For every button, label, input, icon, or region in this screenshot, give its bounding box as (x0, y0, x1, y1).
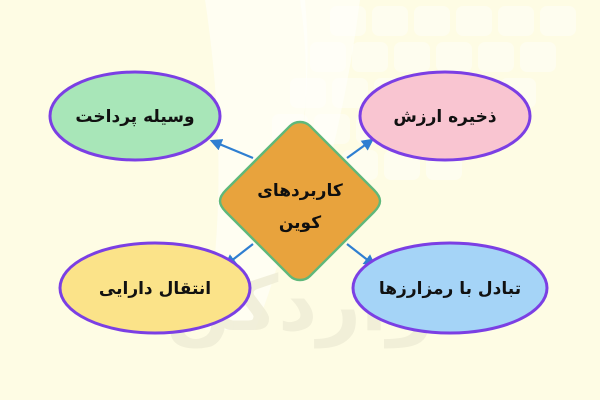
node-label-asset-transfer: انتقال دارایی (99, 279, 211, 299)
center-label-line2: کوین (279, 213, 321, 233)
node-means-of-payment[interactable]: وسیله پرداخت (50, 72, 220, 160)
node-label-means-of-payment: وسیله پرداخت (75, 107, 194, 127)
node-store-of-value[interactable]: ذخیره ارزش (360, 72, 530, 160)
node-layer: وسیله پرداخت ذخیره ارزش انتقال دارایی تب… (0, 0, 600, 400)
node-label-store-of-value: ذخیره ارزش (393, 107, 497, 127)
diagram-canvas: واردکن وسیله پرداخت ذخیره ارزش انتقال دا… (0, 0, 600, 400)
center-label-line1: کاربردهای (257, 181, 343, 201)
node-center-coin-applications[interactable]: کاربردهای کوین (220, 122, 380, 280)
node-label-exchange-with-cryptocurrencies: تبادل با رمزارزها (379, 279, 521, 299)
node-shape-diamond[interactable] (220, 122, 380, 280)
node-exchange-with-cryptocurrencies[interactable]: تبادل با رمزارزها (353, 243, 547, 333)
node-asset-transfer[interactable]: انتقال دارایی (60, 243, 250, 333)
